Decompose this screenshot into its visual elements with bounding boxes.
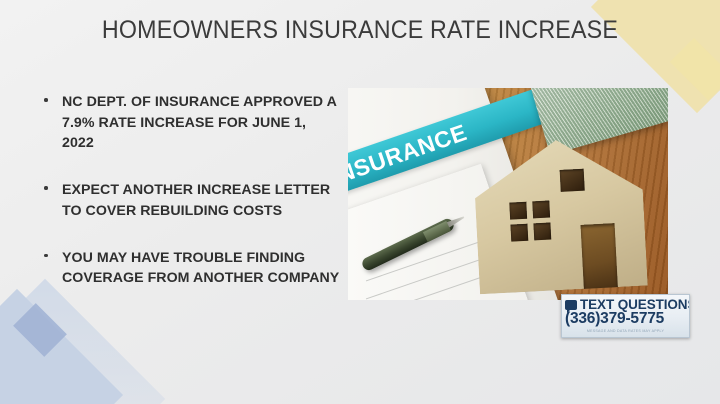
photo-house-window xyxy=(510,224,528,242)
photo-house-window xyxy=(532,201,550,219)
message-bubble-icon xyxy=(565,300,577,310)
list-item: EXPECT ANOTHER INCREASE LETTER TO COVER … xyxy=(40,180,340,221)
bullet-dot-icon xyxy=(44,98,48,102)
slide-photo: INSURANCE xyxy=(348,88,668,300)
bullet-list: NC DEPT. OF INSURANCE APPROVED A 7.9% RA… xyxy=(40,92,340,289)
presentation-slide: HOMEOWNERS INSURANCE RATE INCREASE NC DE… xyxy=(0,0,720,404)
slide-title: HOMEOWNERS INSURANCE RATE INCREASE xyxy=(81,16,639,45)
badge-phone-number: (336)379-5775 xyxy=(562,310,689,328)
list-item: YOU MAY HAVE TROUBLE FINDING COVERAGE FR… xyxy=(40,248,340,289)
photo-house-window xyxy=(533,223,551,241)
photo-house-window xyxy=(509,202,527,220)
photo-house-door xyxy=(581,223,618,289)
photo-wooden-house-cutout xyxy=(472,136,648,295)
badge-fine-print: MESSAGE AND DATA RATES MAY APPLY xyxy=(562,329,689,333)
bullet-text: YOU MAY HAVE TROUBLE FINDING COVERAGE FR… xyxy=(62,250,339,287)
bullet-dot-icon xyxy=(44,254,48,258)
list-item: NC DEPT. OF INSURANCE APPROVED A 7.9% RA… xyxy=(40,92,340,154)
bullet-dot-icon xyxy=(44,186,48,190)
text-questions-badge: TEXT QUESTIONS (336)379-5775 MESSAGE AND… xyxy=(561,294,690,338)
bullet-text: EXPECT ANOTHER INCREASE LETTER TO COVER … xyxy=(62,182,330,219)
photo-house-attic-window xyxy=(560,169,585,192)
photo-house-body xyxy=(472,136,648,295)
bullet-text: NC DEPT. OF INSURANCE APPROVED A 7.9% RA… xyxy=(62,94,336,151)
